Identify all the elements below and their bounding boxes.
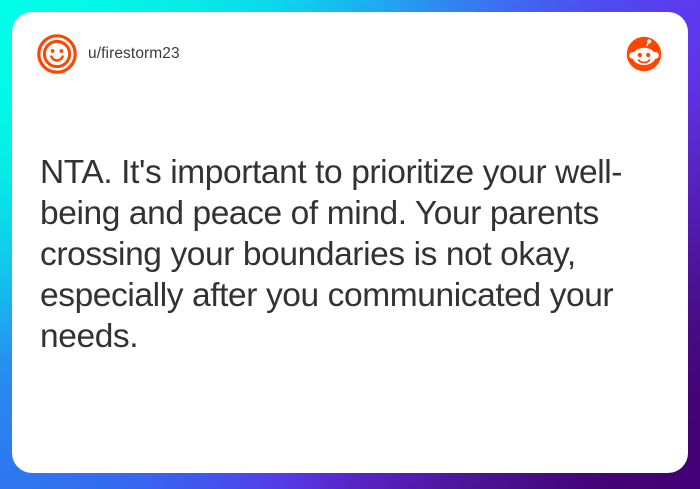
reddit-snoo-icon[interactable] — [626, 36, 662, 72]
post-text: NTA. It's important to prioritize your w… — [40, 152, 650, 357]
avatar[interactable] — [37, 34, 77, 74]
username-label: u/firestorm23 — [88, 45, 180, 63]
card-header: u/firestorm23 — [12, 12, 688, 102]
reddit-comment-card: u/firestorm23 — [12, 12, 688, 473]
screenshot-canvas: u/firestorm23 — [0, 0, 700, 489]
